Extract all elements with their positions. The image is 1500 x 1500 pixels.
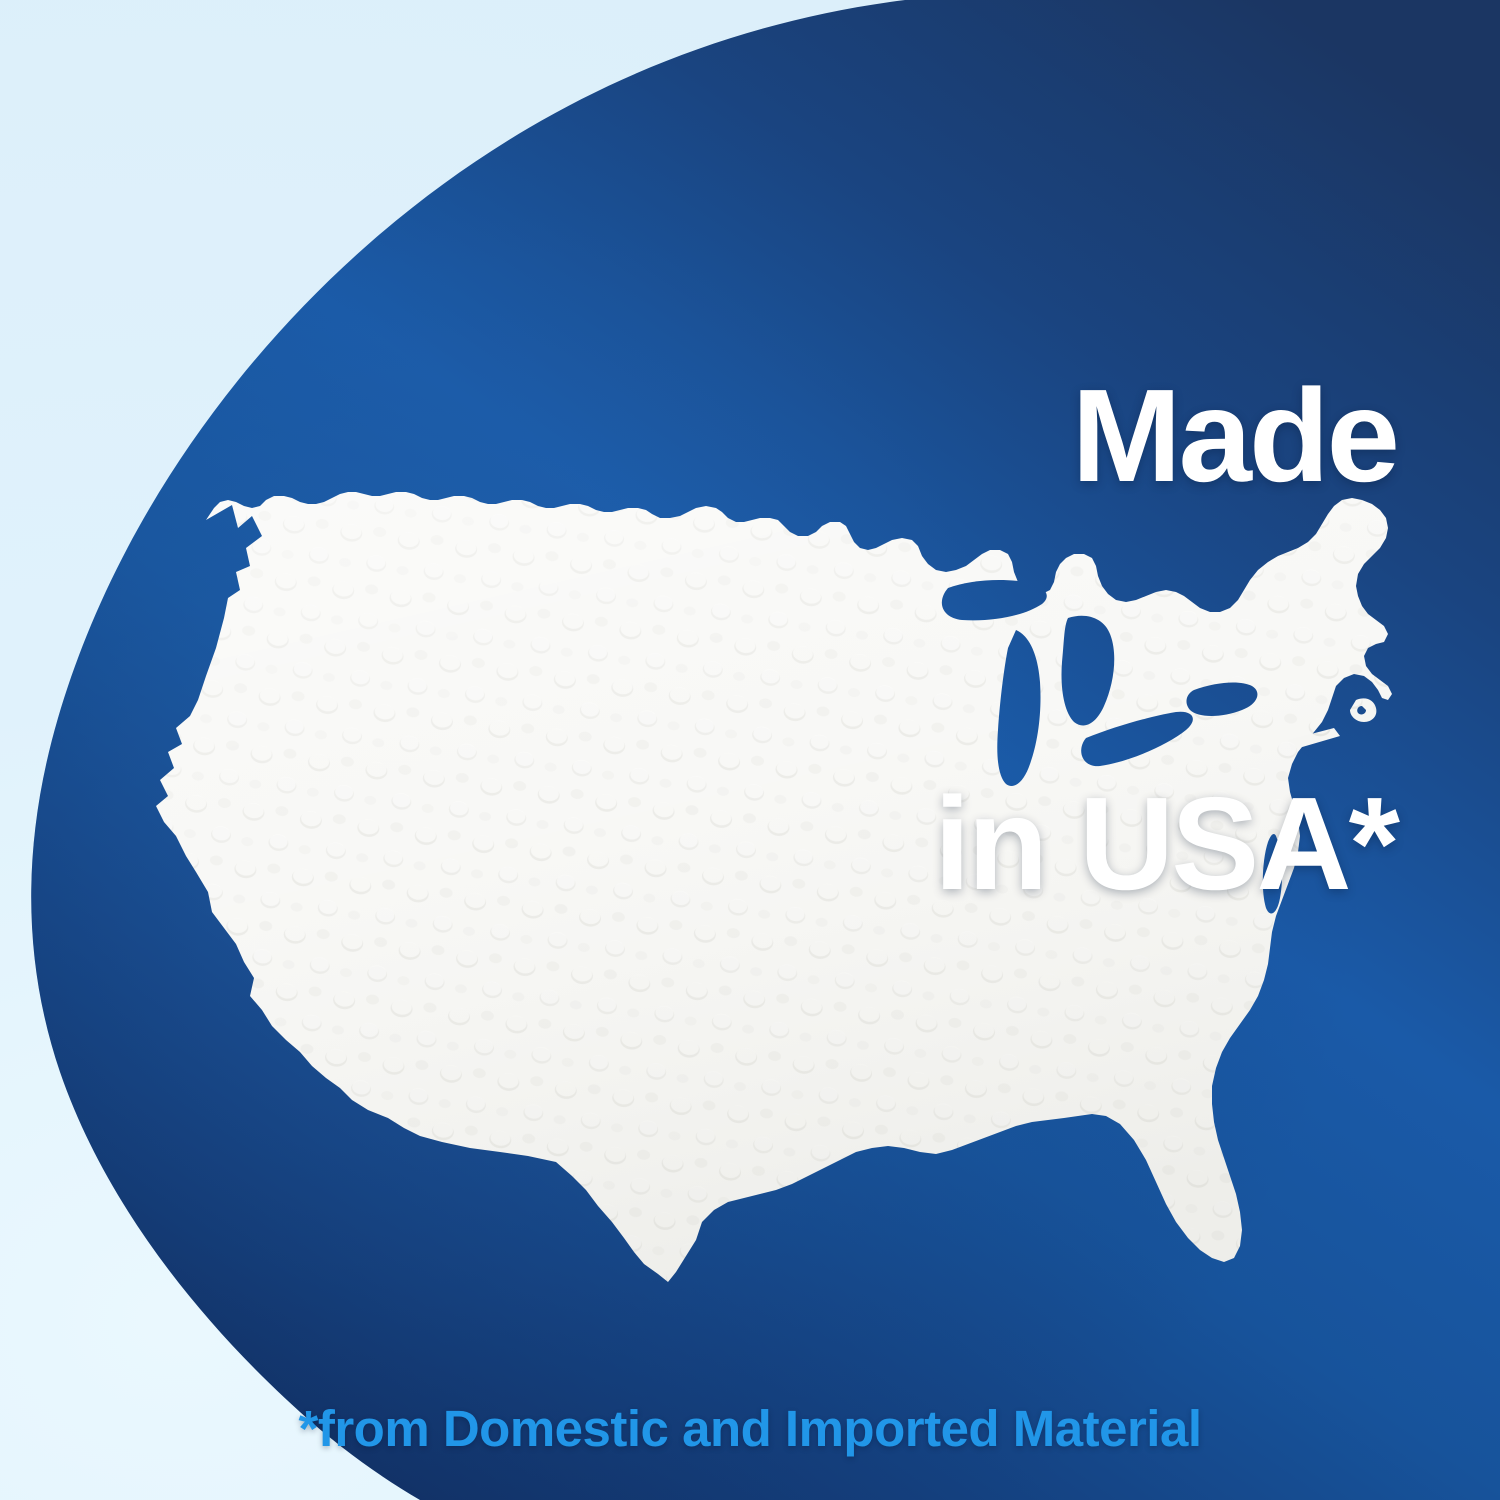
made-in-usa-graphic: Made in USA* *from Domestic and Imported… bbox=[0, 0, 1500, 1500]
footnote-text: *from Domestic and Imported Material bbox=[0, 1399, 1500, 1458]
headline-line-2: in USA* bbox=[497, 776, 1397, 912]
page-title: Made in USA* bbox=[497, 96, 1397, 1184]
headline-line-1: Made bbox=[497, 368, 1397, 504]
